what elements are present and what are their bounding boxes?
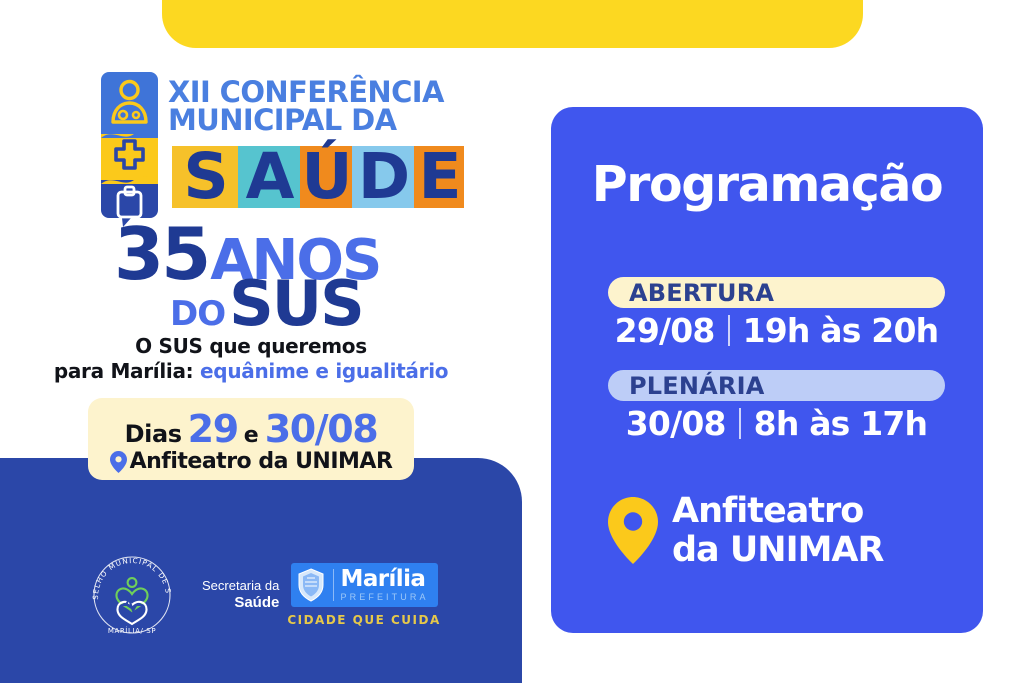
schedule-item-abertura: ABERTURA 29/08 19h às 20h xyxy=(608,277,945,350)
date-second: 30/08 xyxy=(265,407,378,451)
schedule-badge-abertura: ABERTURA xyxy=(608,277,945,308)
plenaria-time: 8h às 17h xyxy=(754,404,928,443)
svg-text:CONSELHO MUNICIPAL DE SAÚDE: CONSELHO MUNICIPAL DE SAÚDE xyxy=(84,547,173,600)
dias-label: Dias xyxy=(125,420,182,448)
abertura-date: 29/08 xyxy=(615,311,715,350)
sus-word: SUS xyxy=(229,278,363,330)
schedule-separator xyxy=(739,408,741,439)
secretaria-line-1: Secretaria da xyxy=(202,578,279,593)
program-venue-line-1: Anfiteatro xyxy=(672,492,883,531)
card-venue-line: Anfiteatro da UNIMAR xyxy=(88,449,414,474)
program-panel: Programação ABERTURA 29/08 19h às 20h PL… xyxy=(551,107,983,633)
schedule-time-plenaria: 30/08 8h às 17h xyxy=(608,404,945,443)
conselho-saude-seal-icon: CONSELHO MUNICIPAL DE SAÚDE MARÍLIA/ SP xyxy=(84,547,180,643)
card-venue-text: Anfiteatro da UNIMAR xyxy=(130,449,393,474)
title-line-1: XII CONFERÊNCIA xyxy=(168,78,508,106)
prefeitura-divider xyxy=(333,569,334,601)
conference-title: XII CONFERÊNCIA MUNICIPAL DA xyxy=(168,78,508,135)
do-sus-line: DO SUS xyxy=(170,278,363,340)
program-heading: Programação xyxy=(551,156,983,213)
abertura-time: 19h às 20h xyxy=(743,311,939,350)
plenaria-date: 30/08 xyxy=(626,404,726,443)
health-conference-logo-icon xyxy=(101,72,158,227)
schedule-separator xyxy=(728,315,730,346)
date-venue-card: Dias 29 e 30/08 Anfiteatro da UNIMAR xyxy=(88,398,414,480)
slogan-line-2-highlight: equânime e igualitário xyxy=(200,359,448,383)
footer-logo-row: CONSELHO MUNICIPAL DE SAÚDE MARÍLIA/ SP … xyxy=(84,547,444,643)
slogan-line-1: O SUS que queremos xyxy=(0,334,502,359)
secretaria-line-2: Saúde xyxy=(202,594,279,612)
saude-letter-4: D xyxy=(352,146,414,208)
left-content-column: XII CONFERÊNCIA MUNICIPAL DA SAÚDE 35 AN… xyxy=(0,0,540,683)
prefeitura-subtitle: PREFEITURA xyxy=(341,593,429,602)
prefeitura-tagline: CIDADE QUE CUIDA xyxy=(287,613,440,627)
map-pin-icon xyxy=(110,451,127,473)
prefeitura-names: Marília PREFEITURA xyxy=(341,568,429,602)
seal-arc-text: CONSELHO MUNICIPAL DE SAÚDE xyxy=(84,547,173,600)
slogan: O SUS que queremos para Marília: equânim… xyxy=(0,334,502,384)
secretaria-saude-label: Secretaria da Saúde xyxy=(202,578,279,611)
date-conjunction: e xyxy=(244,423,259,448)
seal-bottom-text: MARÍLIA/ SP xyxy=(108,626,156,635)
schedule-badge-plenaria: PLENÁRIA xyxy=(608,370,945,401)
program-venue-line-2: da UNIMAR xyxy=(672,531,883,570)
prefeitura-logo: Marília PREFEITURA CIDADE QUE CUIDA xyxy=(287,563,440,627)
marilia-coat-of-arms-icon xyxy=(296,568,326,602)
do-word: DO xyxy=(170,288,225,340)
secretaria-prefeitura-group: Secretaria da Saúde xyxy=(202,563,441,627)
slogan-line-2-prefix: para Marília: xyxy=(54,359,194,383)
schedule-item-plenaria: PLENÁRIA 30/08 8h às 17h xyxy=(608,370,945,443)
saude-letter-3: Ú xyxy=(300,146,352,208)
title-line-2: MUNICIPAL DA xyxy=(168,106,508,134)
poster-canvas: XII CONFERÊNCIA MUNICIPAL DA SAÚDE 35 AN… xyxy=(0,0,1024,683)
date-line: Dias 29 e 30/08 xyxy=(88,407,414,447)
saude-letter-1: S xyxy=(172,146,238,208)
program-venue: Anfiteatro da UNIMAR xyxy=(608,492,948,569)
saude-letter-2: A xyxy=(238,146,300,208)
map-pin-icon xyxy=(608,497,658,564)
saude-wordmark: SAÚDE xyxy=(172,146,464,208)
program-venue-text: Anfiteatro da UNIMAR xyxy=(672,492,883,569)
schedule-time-abertura: 29/08 19h às 20h xyxy=(608,311,945,350)
date-first: 29 xyxy=(188,407,238,451)
prefeitura-badge: Marília PREFEITURA xyxy=(291,563,438,607)
saude-letter-5: E xyxy=(414,146,464,208)
prefeitura-city: Marília xyxy=(341,566,426,592)
slogan-line-2: para Marília: equânime e igualitário xyxy=(0,359,502,384)
